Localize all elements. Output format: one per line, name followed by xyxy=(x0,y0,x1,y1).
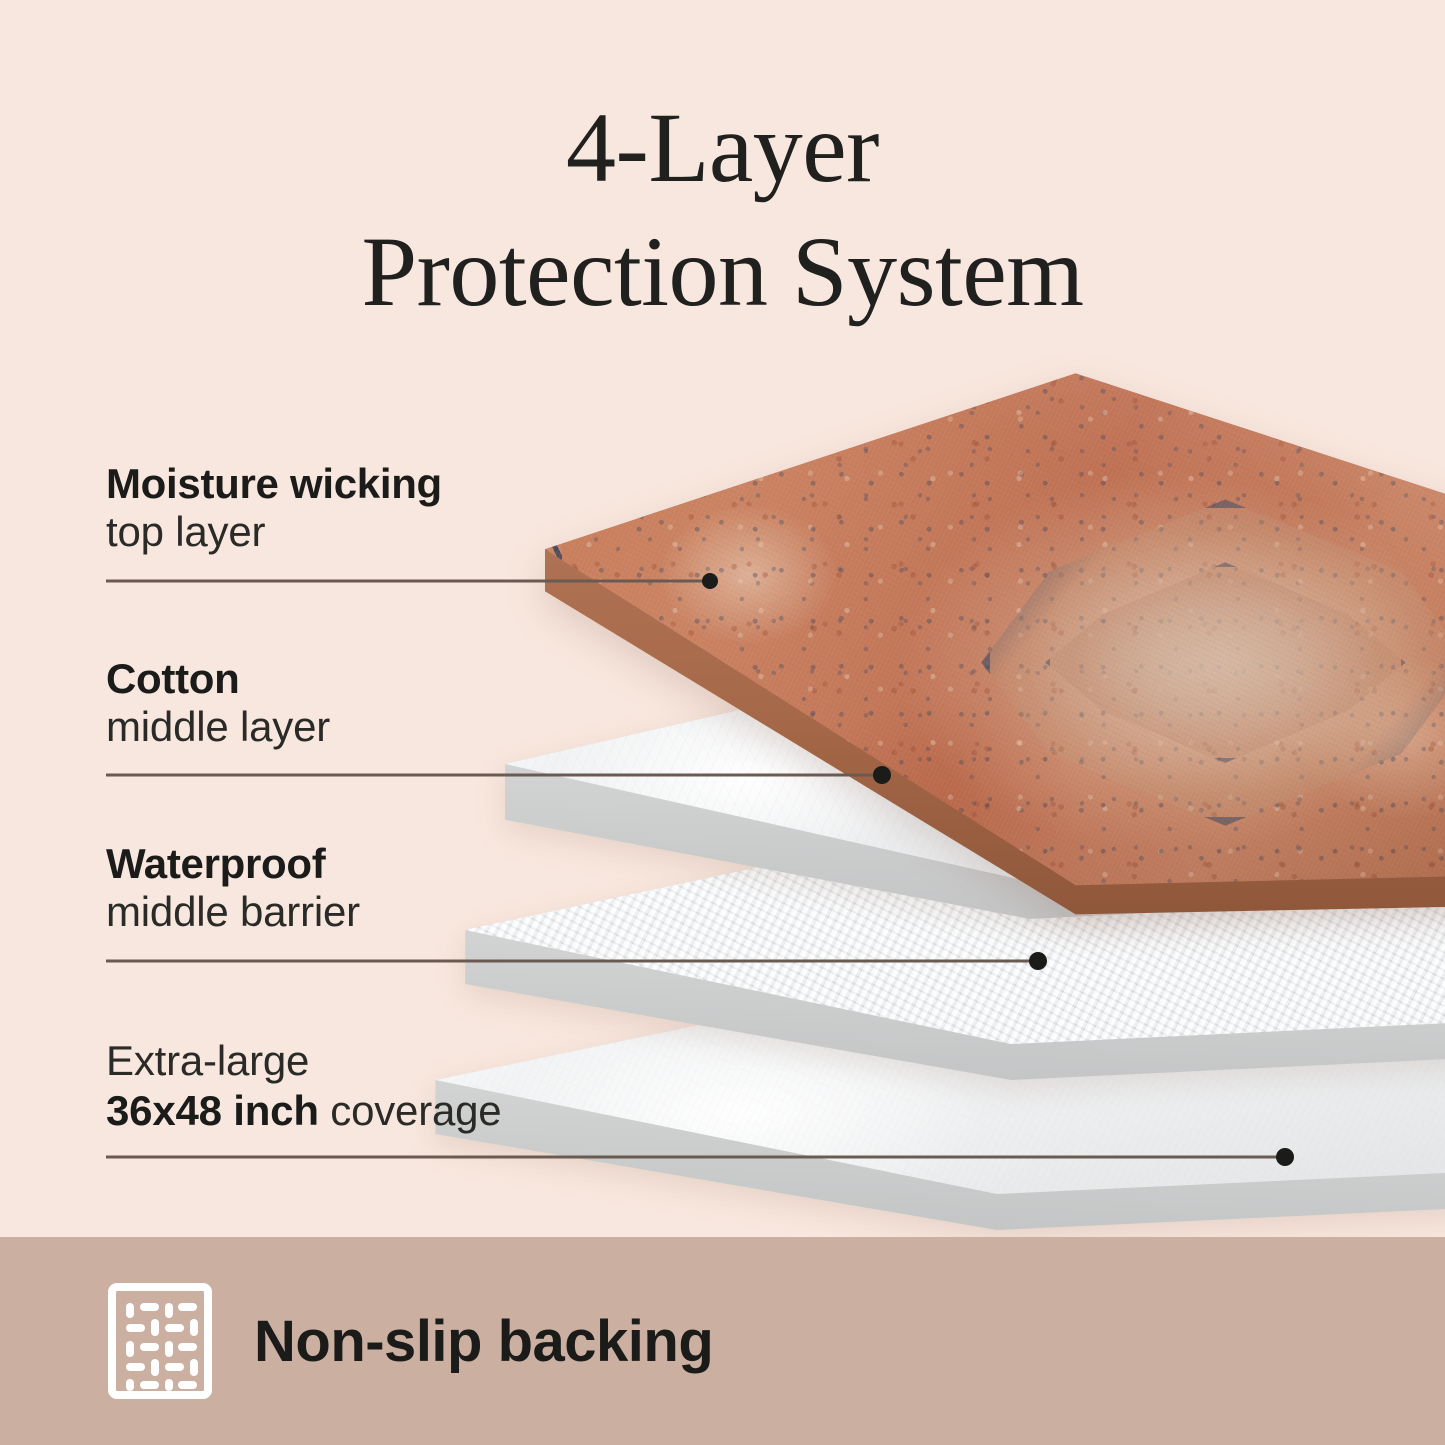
non-slip-grid-icon xyxy=(108,1283,212,1399)
label-coverage: Extra-large 36x48 inch coverage xyxy=(106,1036,501,1135)
page-title: 4-Layer Protection System xyxy=(0,86,1445,334)
title-line-1: 4-Layer xyxy=(566,92,879,203)
label-waterproof: Waterproof middle barrier xyxy=(106,840,360,937)
label-cotton: Cotton middle layer xyxy=(106,655,330,752)
title-line-2: Protection System xyxy=(0,210,1445,334)
coverage-heading: Extra-large xyxy=(106,1036,501,1086)
footer-label: Non-slip backing xyxy=(254,1308,713,1375)
coverage-suffix: coverage xyxy=(319,1087,502,1134)
coverage-dimensions: 36x48 inch xyxy=(106,1087,319,1134)
infographic-root: 4-Layer Protection System xyxy=(0,0,1445,1445)
label-moisture-wicking: Moisture wicking top layer xyxy=(106,460,442,557)
label-subheading: top layer xyxy=(106,507,442,557)
label-heading: Moisture wicking xyxy=(106,460,442,507)
coverage-subheading: 36x48 inch coverage xyxy=(106,1086,501,1136)
label-subheading: middle layer xyxy=(106,702,330,752)
label-subheading: middle barrier xyxy=(106,887,360,937)
footer-bar: Non-slip backing xyxy=(0,1237,1445,1445)
label-heading: Cotton xyxy=(106,655,330,702)
label-heading: Waterproof xyxy=(106,840,360,887)
